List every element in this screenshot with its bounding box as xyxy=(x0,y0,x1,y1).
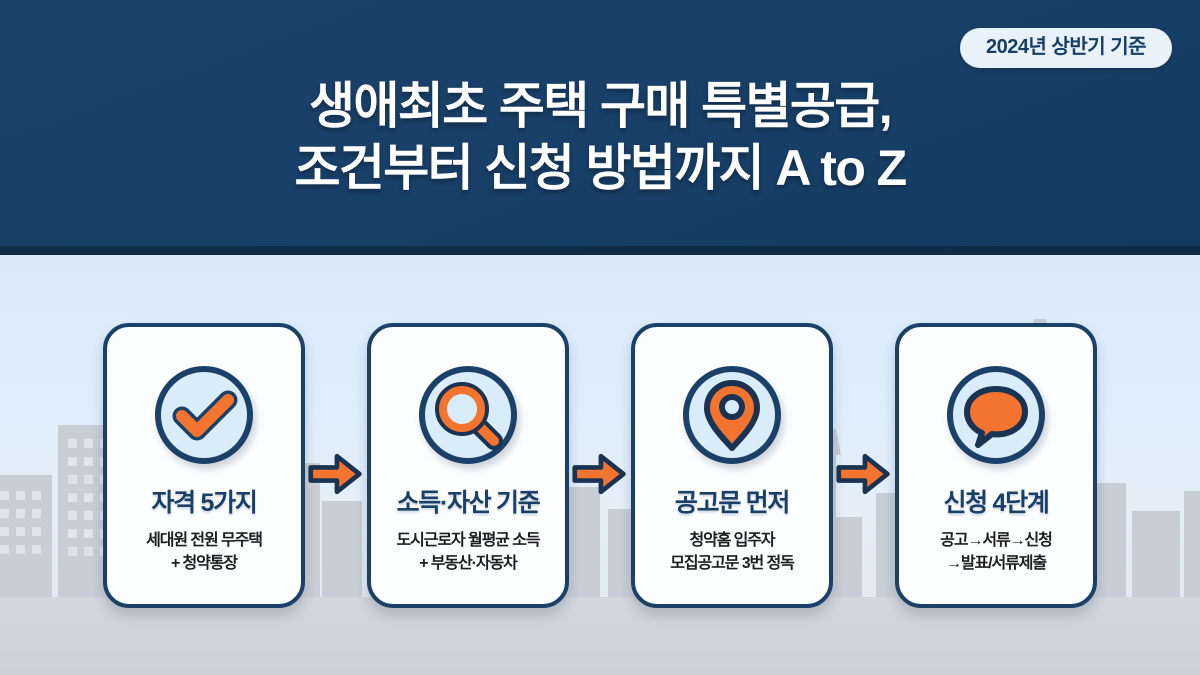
step-card-1-description: 세대원 전원 무주택 + 청약통장 xyxy=(140,529,268,575)
check-icon xyxy=(150,361,258,469)
title-line-1: 생애최초 주택 구매 특별공급, xyxy=(0,76,1200,138)
page-title: 생애최초 주택 구매 특별공급, 조건부터 신청 방법까지 A to Z xyxy=(0,76,1200,199)
step-card-3-desc-line-2: 모집공고문 3번 정독 xyxy=(670,552,793,575)
step-card-3-description: 청약홈 입주자 모집공고문 3번 정독 xyxy=(664,529,799,575)
arrow-right-icon-2 xyxy=(569,446,631,502)
step-card-4-desc-line-2: →발표/서류제출 xyxy=(940,552,1052,575)
step-card-2-title: 소득·자산 기준 xyxy=(397,491,540,516)
step-card-2-description: 도시근로자 월평균 소득 + 부동산·자동차 xyxy=(391,529,546,575)
status-badge: 2024년 상반기 기준 xyxy=(960,28,1172,68)
step-card-2-desc-line-2: + 부동산·자동차 xyxy=(397,552,540,575)
magnifier-icon xyxy=(414,361,522,469)
step-card-3[interactable]: 공고문 먼저 청약홈 입주자 모집공고문 3번 정독 xyxy=(631,323,833,608)
step-card-4-title: 신청 4단계 xyxy=(943,491,1048,516)
step-card-4-description: 공고→서류→신청 →발표/서류제출 xyxy=(934,529,1058,575)
step-card-3-title: 공고문 먼저 xyxy=(675,491,789,516)
title-line-2: 조건부터 신청 방법까지 A to Z xyxy=(0,138,1200,200)
header-banner: 2024년 상반기 기준 생애최초 주택 구매 특별공급, 조건부터 신청 방법… xyxy=(0,0,1200,255)
arrow-right-icon-1 xyxy=(305,446,367,502)
step-card-row: 자격 5가지 세대원 전원 무주택 + 청약통장 xyxy=(0,255,1200,675)
step-card-1-desc-line-2: + 청약통장 xyxy=(146,552,262,575)
step-card-1[interactable]: 자격 5가지 세대원 전원 무주택 + 청약통장 xyxy=(103,323,305,608)
map-pin-icon xyxy=(678,361,786,469)
infographic-canvas: 2024년 상반기 기준 생애최초 주택 구매 특별공급, 조건부터 신청 방법… xyxy=(0,0,1200,675)
step-card-3-desc-line-1: 청약홈 입주자 xyxy=(670,529,793,552)
step-card-4[interactable]: 신청 4단계 공고→서류→신청 →발표/서류제출 xyxy=(895,323,1097,608)
step-card-4-desc-line-1: 공고→서류→신청 xyxy=(940,529,1052,552)
arrow-right-icon-3 xyxy=(833,446,895,502)
step-card-2[interactable]: 소득·자산 기준 도시근로자 월평균 소득 + 부동산·자동차 xyxy=(367,323,569,608)
step-card-1-desc-line-1: 세대원 전원 무주택 xyxy=(146,529,262,552)
step-card-2-desc-line-1: 도시근로자 월평균 소득 xyxy=(397,529,540,552)
speech-bubble-icon xyxy=(942,361,1050,469)
step-card-1-title: 자격 5가지 xyxy=(151,491,256,516)
